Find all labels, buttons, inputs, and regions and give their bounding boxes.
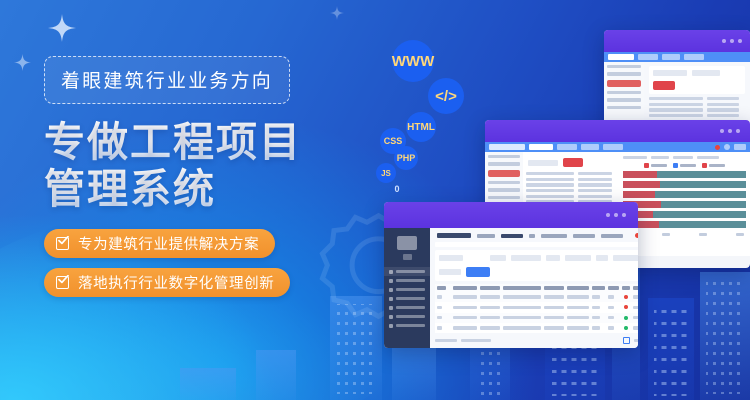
nav-item[interactable] — [488, 162, 520, 165]
tab-item[interactable] — [603, 144, 623, 150]
status-badge — [624, 316, 628, 320]
notification-badge[interactable] — [715, 145, 720, 150]
nav-item[interactable] — [607, 65, 641, 68]
window-titlebar-back[interactable] — [604, 30, 750, 52]
nav-item[interactable] — [488, 155, 520, 158]
tabbar-middle[interactable] — [485, 142, 750, 152]
nav-item[interactable] — [607, 98, 641, 101]
folder-icon — [389, 279, 393, 283]
chart-icon — [389, 297, 393, 301]
php-bubble-label: PHP — [397, 153, 416, 163]
brand-logo — [437, 233, 471, 238]
window-dot-icon — [738, 39, 742, 43]
sidebar-item-finance[interactable] — [384, 294, 430, 303]
table-row[interactable] — [435, 313, 638, 323]
window-titlebar-middle[interactable] — [485, 120, 750, 142]
tab-active[interactable] — [529, 144, 553, 150]
content-front — [430, 228, 638, 348]
code-bubble-label: </> — [435, 88, 457, 105]
feature-badge-2-label: 落地执行行业数字化管理创新 — [78, 272, 274, 293]
tab-item[interactable] — [662, 54, 680, 60]
table-row[interactable] — [435, 302, 638, 312]
avatar[interactable] — [724, 144, 730, 150]
zero-label: 0 — [390, 182, 404, 196]
page-current[interactable] — [623, 337, 630, 344]
tabbar-back[interactable] — [604, 52, 750, 62]
stacked-bar-chart — [623, 171, 746, 228]
pagination[interactable] — [435, 333, 638, 344]
tab-item[interactable] — [557, 144, 577, 150]
window-dot-icon — [722, 39, 726, 43]
chevron-down-icon[interactable] — [529, 234, 535, 238]
promo-banner: 着眼建筑行业业务方向 专做工程项目 管理系统 专为建筑行业提供解决方案 落地执行… — [0, 0, 750, 400]
list-item[interactable] — [649, 108, 745, 111]
app-logo-sub — [403, 254, 412, 260]
nav-item-active[interactable] — [607, 80, 641, 87]
menu-item[interactable] — [573, 234, 595, 238]
tab-item[interactable] — [581, 144, 599, 150]
window-body-front — [384, 228, 638, 348]
list-item[interactable] — [649, 114, 745, 117]
status-badge — [624, 326, 628, 330]
chart-axis — [623, 231, 746, 236]
css-bubble-label: CSS — [384, 136, 403, 146]
nav-item[interactable] — [607, 72, 641, 75]
list-item[interactable] — [526, 189, 616, 192]
window-dot-icon — [720, 129, 724, 133]
top-toolbar-front[interactable] — [435, 232, 638, 242]
chart-bar — [623, 201, 746, 208]
status-badge — [624, 295, 628, 299]
list-item[interactable] — [526, 172, 616, 175]
php-bubble: PHP — [394, 146, 418, 170]
chart-panel-middle — [619, 152, 750, 256]
list-item[interactable] — [649, 103, 745, 106]
window-dot-icon — [606, 213, 610, 217]
feature-badge-1-label: 专为建筑行业提供解决方案 — [78, 233, 259, 254]
feature-badges: 专为建筑行业提供解决方案 落地执行行业数字化管理创新 — [44, 229, 344, 297]
tab-item[interactable] — [638, 54, 658, 60]
www-bubble-label: WWW — [392, 53, 434, 70]
title-line-2: 管理系统 — [44, 166, 344, 213]
breadcrumb — [435, 242, 638, 247]
check-square-icon — [56, 276, 69, 289]
www-bubble: WWW — [392, 40, 434, 82]
list-item[interactable] — [526, 195, 616, 198]
dashboard-window-front[interactable] — [384, 202, 638, 348]
legend-item — [702, 163, 725, 168]
window-dot-icon — [622, 213, 626, 217]
legend-item — [644, 163, 667, 168]
user-icon — [389, 306, 393, 310]
window-dot-icon — [614, 213, 618, 217]
chart-legend — [623, 163, 746, 168]
html-bubble-label: HTML — [407, 122, 435, 133]
subtitle-text: 着眼建筑行业业务方向 — [61, 66, 273, 93]
chart-bar — [623, 211, 746, 218]
html-bubble: HTML — [406, 112, 436, 142]
menu-item[interactable] — [477, 234, 495, 238]
app-logo-icon — [397, 236, 417, 250]
filter-bar-back[interactable] — [649, 66, 745, 94]
chart-bar — [623, 221, 746, 228]
tab-active[interactable] — [608, 54, 634, 60]
nav-item[interactable] — [607, 106, 641, 109]
sparkle-tiny — [330, 6, 344, 20]
page-title: 专做工程项目 管理系统 — [44, 119, 344, 213]
sparkle-small — [14, 54, 31, 71]
status-badge — [624, 305, 628, 309]
window-dot-icon — [730, 39, 734, 43]
check-square-icon — [56, 237, 69, 250]
title-line-1: 专做工程项目 — [44, 119, 344, 166]
chart-bar — [623, 191, 746, 198]
copy-block: 着眼建筑行业业务方向 专做工程项目 管理系统 专为建筑行业提供解决方案 落地执行… — [44, 56, 344, 307]
chart-bar — [623, 181, 746, 188]
nav-item[interactable] — [488, 196, 520, 199]
js-bubble: JS — [376, 163, 396, 183]
sidebar-item-settings[interactable] — [384, 321, 430, 330]
table-row[interactable] — [435, 323, 638, 333]
nav-item-active[interactable] — [488, 170, 520, 177]
zero-label-text: 0 — [394, 184, 399, 194]
table-row[interactable] — [435, 292, 638, 302]
list-item[interactable] — [526, 178, 616, 181]
sparkle-large — [48, 14, 76, 42]
filter-bar-middle[interactable] — [526, 156, 616, 169]
chart-bar — [623, 171, 746, 178]
user-name[interactable] — [734, 144, 746, 150]
window-dot-icon — [736, 129, 740, 133]
subtitle-box: 着眼建筑行业业务方向 — [44, 56, 290, 104]
summary-row — [623, 156, 746, 159]
nav-item[interactable] — [488, 188, 520, 191]
sidebar-item-materials[interactable] — [384, 312, 430, 321]
nav-item[interactable] — [607, 91, 641, 94]
search-button[interactable] — [466, 267, 490, 277]
sidebar-item-staff[interactable] — [384, 303, 430, 312]
record-list-middle — [526, 172, 616, 204]
tab-item[interactable] — [684, 54, 704, 60]
menu-item[interactable] — [601, 234, 623, 238]
menu-item-active[interactable] — [501, 234, 523, 238]
sidebar-item-dashboard[interactable] — [384, 267, 430, 276]
sidebar-item-contracts[interactable] — [384, 285, 430, 294]
nav-item[interactable] — [488, 181, 520, 184]
file-icon — [389, 288, 393, 292]
js-bubble-label: JS — [381, 169, 391, 178]
brand-logo — [489, 144, 525, 150]
box-icon — [389, 315, 393, 319]
filter-bar-front[interactable] — [435, 250, 638, 281]
feature-badge-1[interactable]: 专为建筑行业提供解决方案 — [44, 229, 275, 258]
sidebar-item-projects[interactable] — [384, 276, 430, 285]
list-item[interactable] — [526, 183, 616, 186]
list-item[interactable] — [649, 97, 745, 100]
notification-badge[interactable] — [635, 233, 638, 238]
feature-badge-2[interactable]: 落地执行行业数字化管理创新 — [44, 268, 290, 297]
window-dot-icon — [728, 129, 732, 133]
grid-icon — [389, 270, 393, 274]
legend-item — [673, 163, 696, 168]
table-header-row — [435, 284, 638, 292]
window-titlebar-front[interactable] — [384, 202, 638, 228]
sidebar-front[interactable] — [384, 228, 430, 348]
menu-item[interactable] — [541, 234, 567, 238]
code-bubble: </> — [428, 78, 464, 114]
gear-icon — [389, 324, 393, 328]
records-table[interactable] — [435, 284, 638, 333]
